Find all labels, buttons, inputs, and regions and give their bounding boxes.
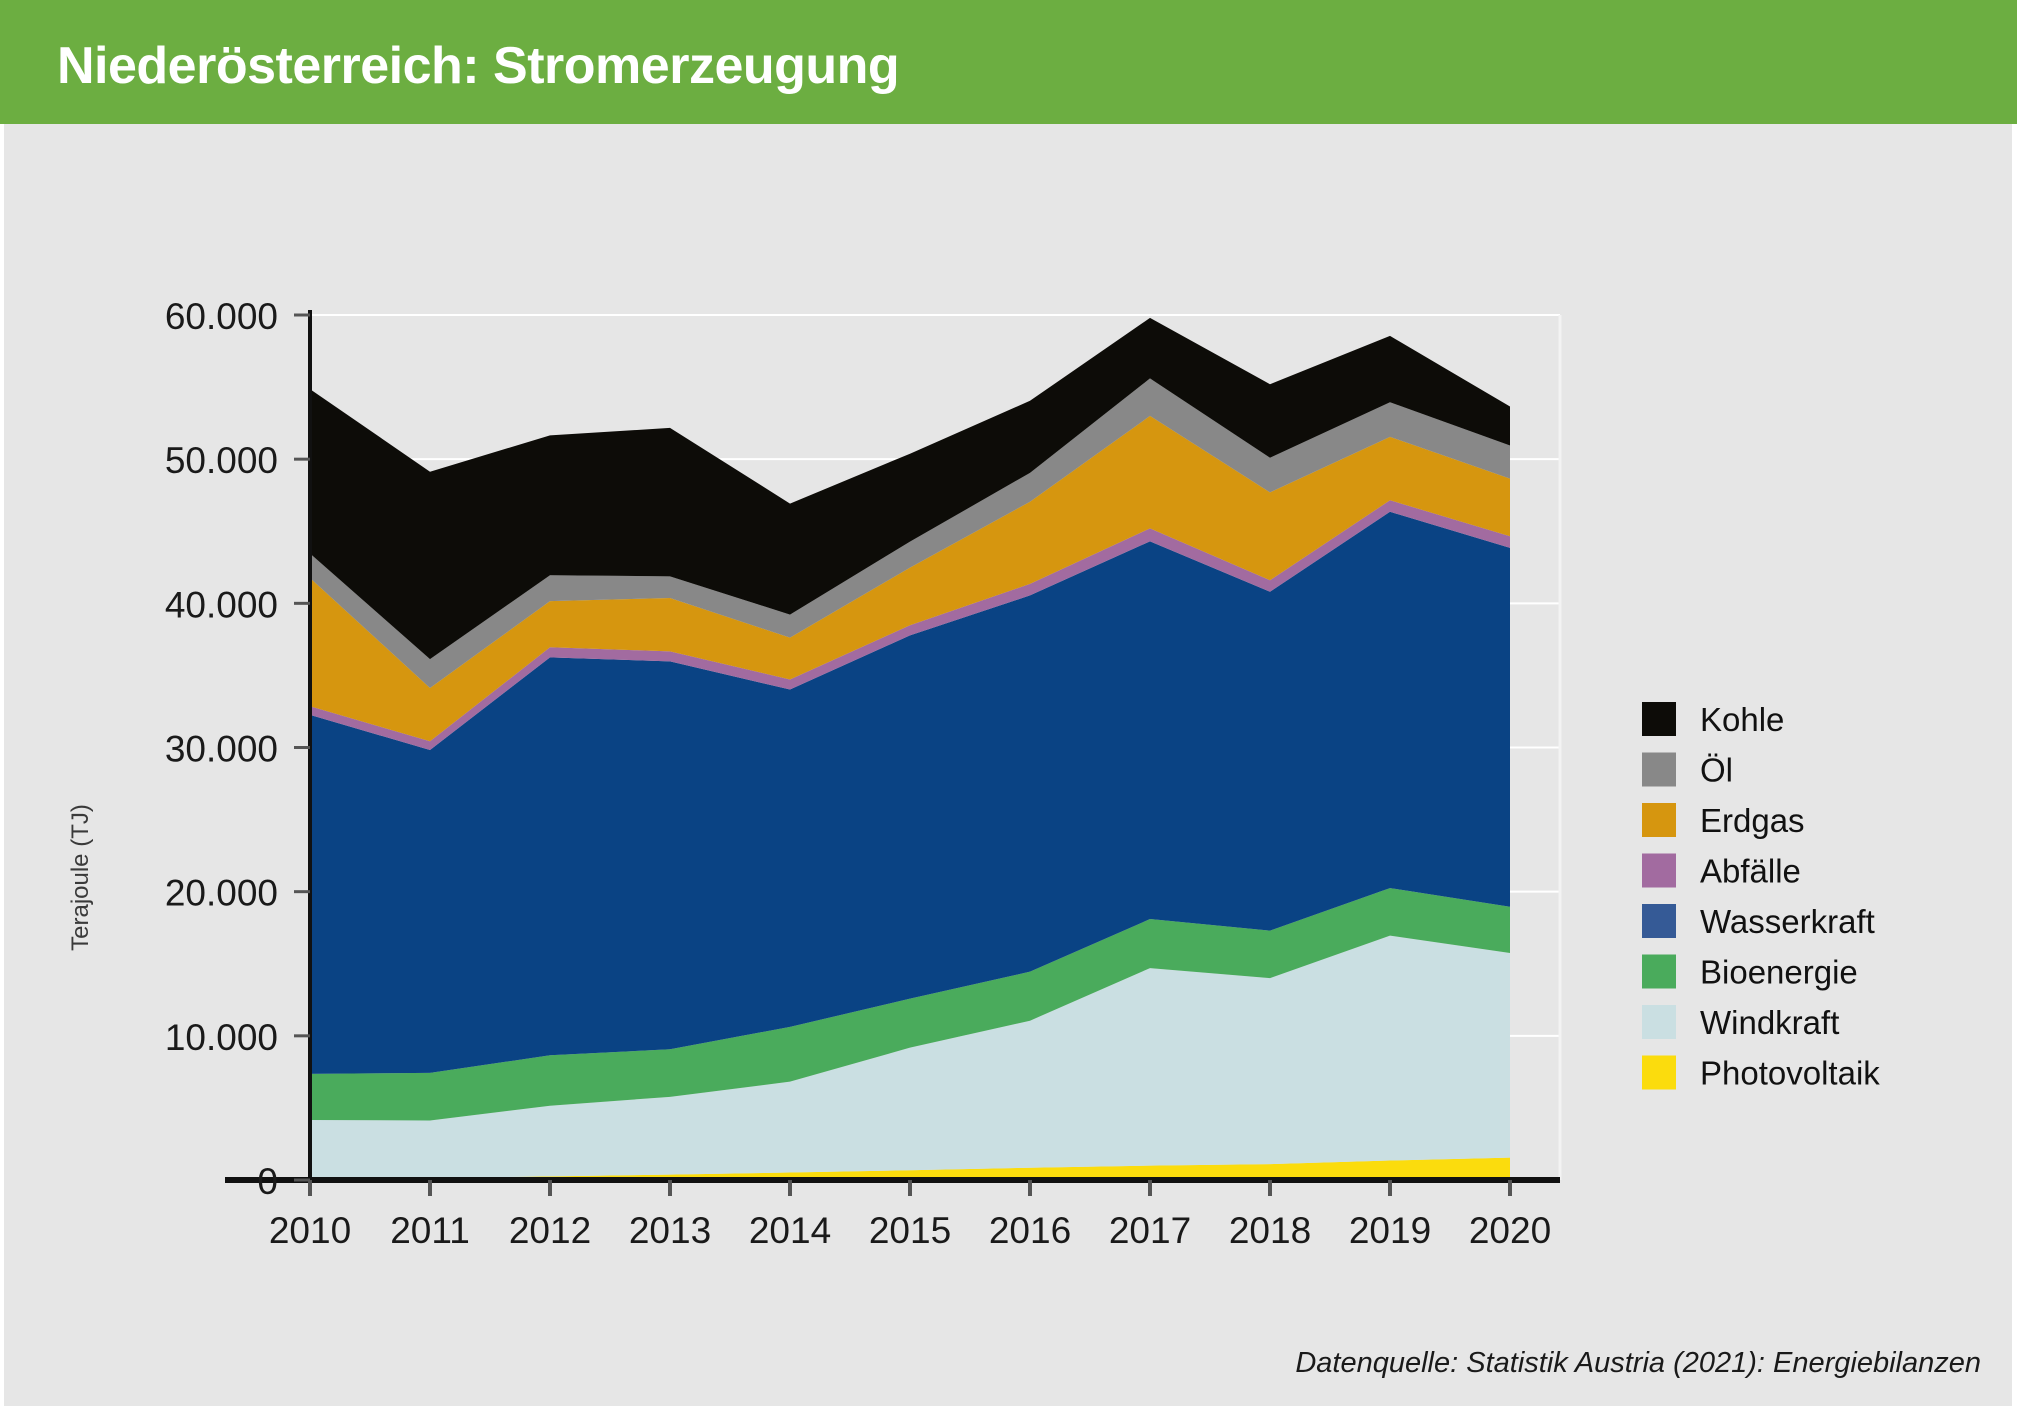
y-tick-label: 60.000 bbox=[165, 296, 278, 337]
x-tick-label: 2017 bbox=[1109, 1210, 1191, 1251]
y-tick-label: 20.000 bbox=[165, 873, 278, 914]
legend-swatch-bioenergie bbox=[1642, 955, 1676, 989]
y-tick-label: 10.000 bbox=[165, 1017, 278, 1058]
y-tick-labels: 010.00020.00030.00040.00050.00060.000 bbox=[165, 296, 278, 1202]
y-tick-label: 50.000 bbox=[165, 440, 278, 481]
x-tick-label: 2018 bbox=[1229, 1210, 1311, 1251]
legend-label: Abfälle bbox=[1700, 853, 1801, 890]
legend-label: Öl bbox=[1700, 752, 1733, 789]
legend-label: Windkraft bbox=[1700, 1004, 1839, 1041]
legend-swatch-abfälle bbox=[1642, 854, 1676, 888]
x-tick-label: 2016 bbox=[989, 1210, 1071, 1251]
y-axis-title-text: Terajoule (TJ) bbox=[67, 804, 94, 951]
x-tick-label: 2014 bbox=[749, 1210, 831, 1251]
legend-label: Photovoltaik bbox=[1700, 1055, 1880, 1092]
x-tick-labels: 2010201120122013201420152016201720182019… bbox=[269, 1210, 1551, 1251]
legend-label: Kohle bbox=[1700, 701, 1784, 738]
title-band: Niederösterreich: Stromerzeugung bbox=[0, 0, 2017, 124]
stacked-area-chart: 010.00020.00030.00040.00050.00060.000 20… bbox=[0, 124, 2017, 1412]
source-note: Datenquelle: Statistik Austria (2021): E… bbox=[1295, 1347, 1981, 1380]
page-title: Niederösterreich: Stromerzeugung bbox=[57, 36, 899, 96]
legend-swatch-photovoltaik bbox=[1642, 1056, 1676, 1090]
legend-swatch-windkraft bbox=[1642, 1005, 1676, 1039]
legend-swatch-öl bbox=[1642, 753, 1676, 787]
chart-page: Niederösterreich: Stromerzeugung 010.000… bbox=[0, 0, 2017, 1412]
legend-swatch-erdgas bbox=[1642, 803, 1676, 837]
x-tick-label: 2019 bbox=[1349, 1210, 1431, 1251]
x-tick-label: 2010 bbox=[269, 1210, 351, 1251]
x-tick-label: 2015 bbox=[869, 1210, 951, 1251]
y-axis-title: Terajoule (TJ) bbox=[67, 804, 94, 951]
legend-label: Bioenergie bbox=[1700, 954, 1858, 991]
x-tick-label: 2011 bbox=[390, 1210, 470, 1251]
legend-swatch-wasserkraft bbox=[1642, 904, 1676, 938]
x-tick-label: 2012 bbox=[509, 1210, 591, 1251]
y-tick-label: 30.000 bbox=[165, 729, 278, 770]
y-tick-label: 0 bbox=[257, 1161, 278, 1202]
legend-label: Erdgas bbox=[1700, 802, 1805, 839]
y-tick-label: 40.000 bbox=[165, 584, 278, 625]
x-tick-label: 2020 bbox=[1469, 1210, 1551, 1251]
legend-label: Wasserkraft bbox=[1700, 903, 1875, 940]
chart-legend: KohleÖlErdgasAbfälleWasserkraftBioenergi… bbox=[1642, 701, 1880, 1092]
area-series-group bbox=[310, 318, 1510, 1180]
legend-swatch-kohle bbox=[1642, 702, 1676, 736]
x-tick-label: 2013 bbox=[629, 1210, 711, 1251]
